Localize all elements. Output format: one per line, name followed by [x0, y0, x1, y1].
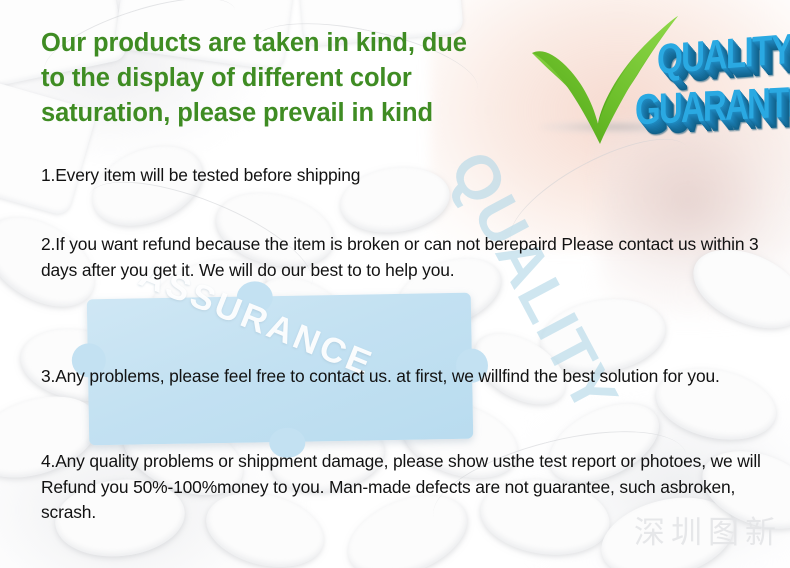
quality-guarantee-badge: QUALITY GUARANTEE — [520, 8, 790, 158]
policy-item-4: 4.Any quality problems or shippment dama… — [41, 449, 767, 526]
badge-guarantee-text: GUARANTEE — [635, 78, 790, 131]
policy-item-1: 1.Every item will be tested before shipp… — [41, 163, 360, 189]
badge-quality-text: QUALITY — [657, 27, 790, 80]
policy-item-3: 3.Any problems, please feel free to cont… — [41, 364, 767, 390]
page-title: Our products are taken in kind, due to t… — [41, 26, 581, 131]
quality-guarantee-banner: ASSURANCE QUALITY 深圳图新 Our products are … — [0, 0, 790, 568]
policy-item-2: 2.If you want refund because the item is… — [41, 232, 763, 283]
